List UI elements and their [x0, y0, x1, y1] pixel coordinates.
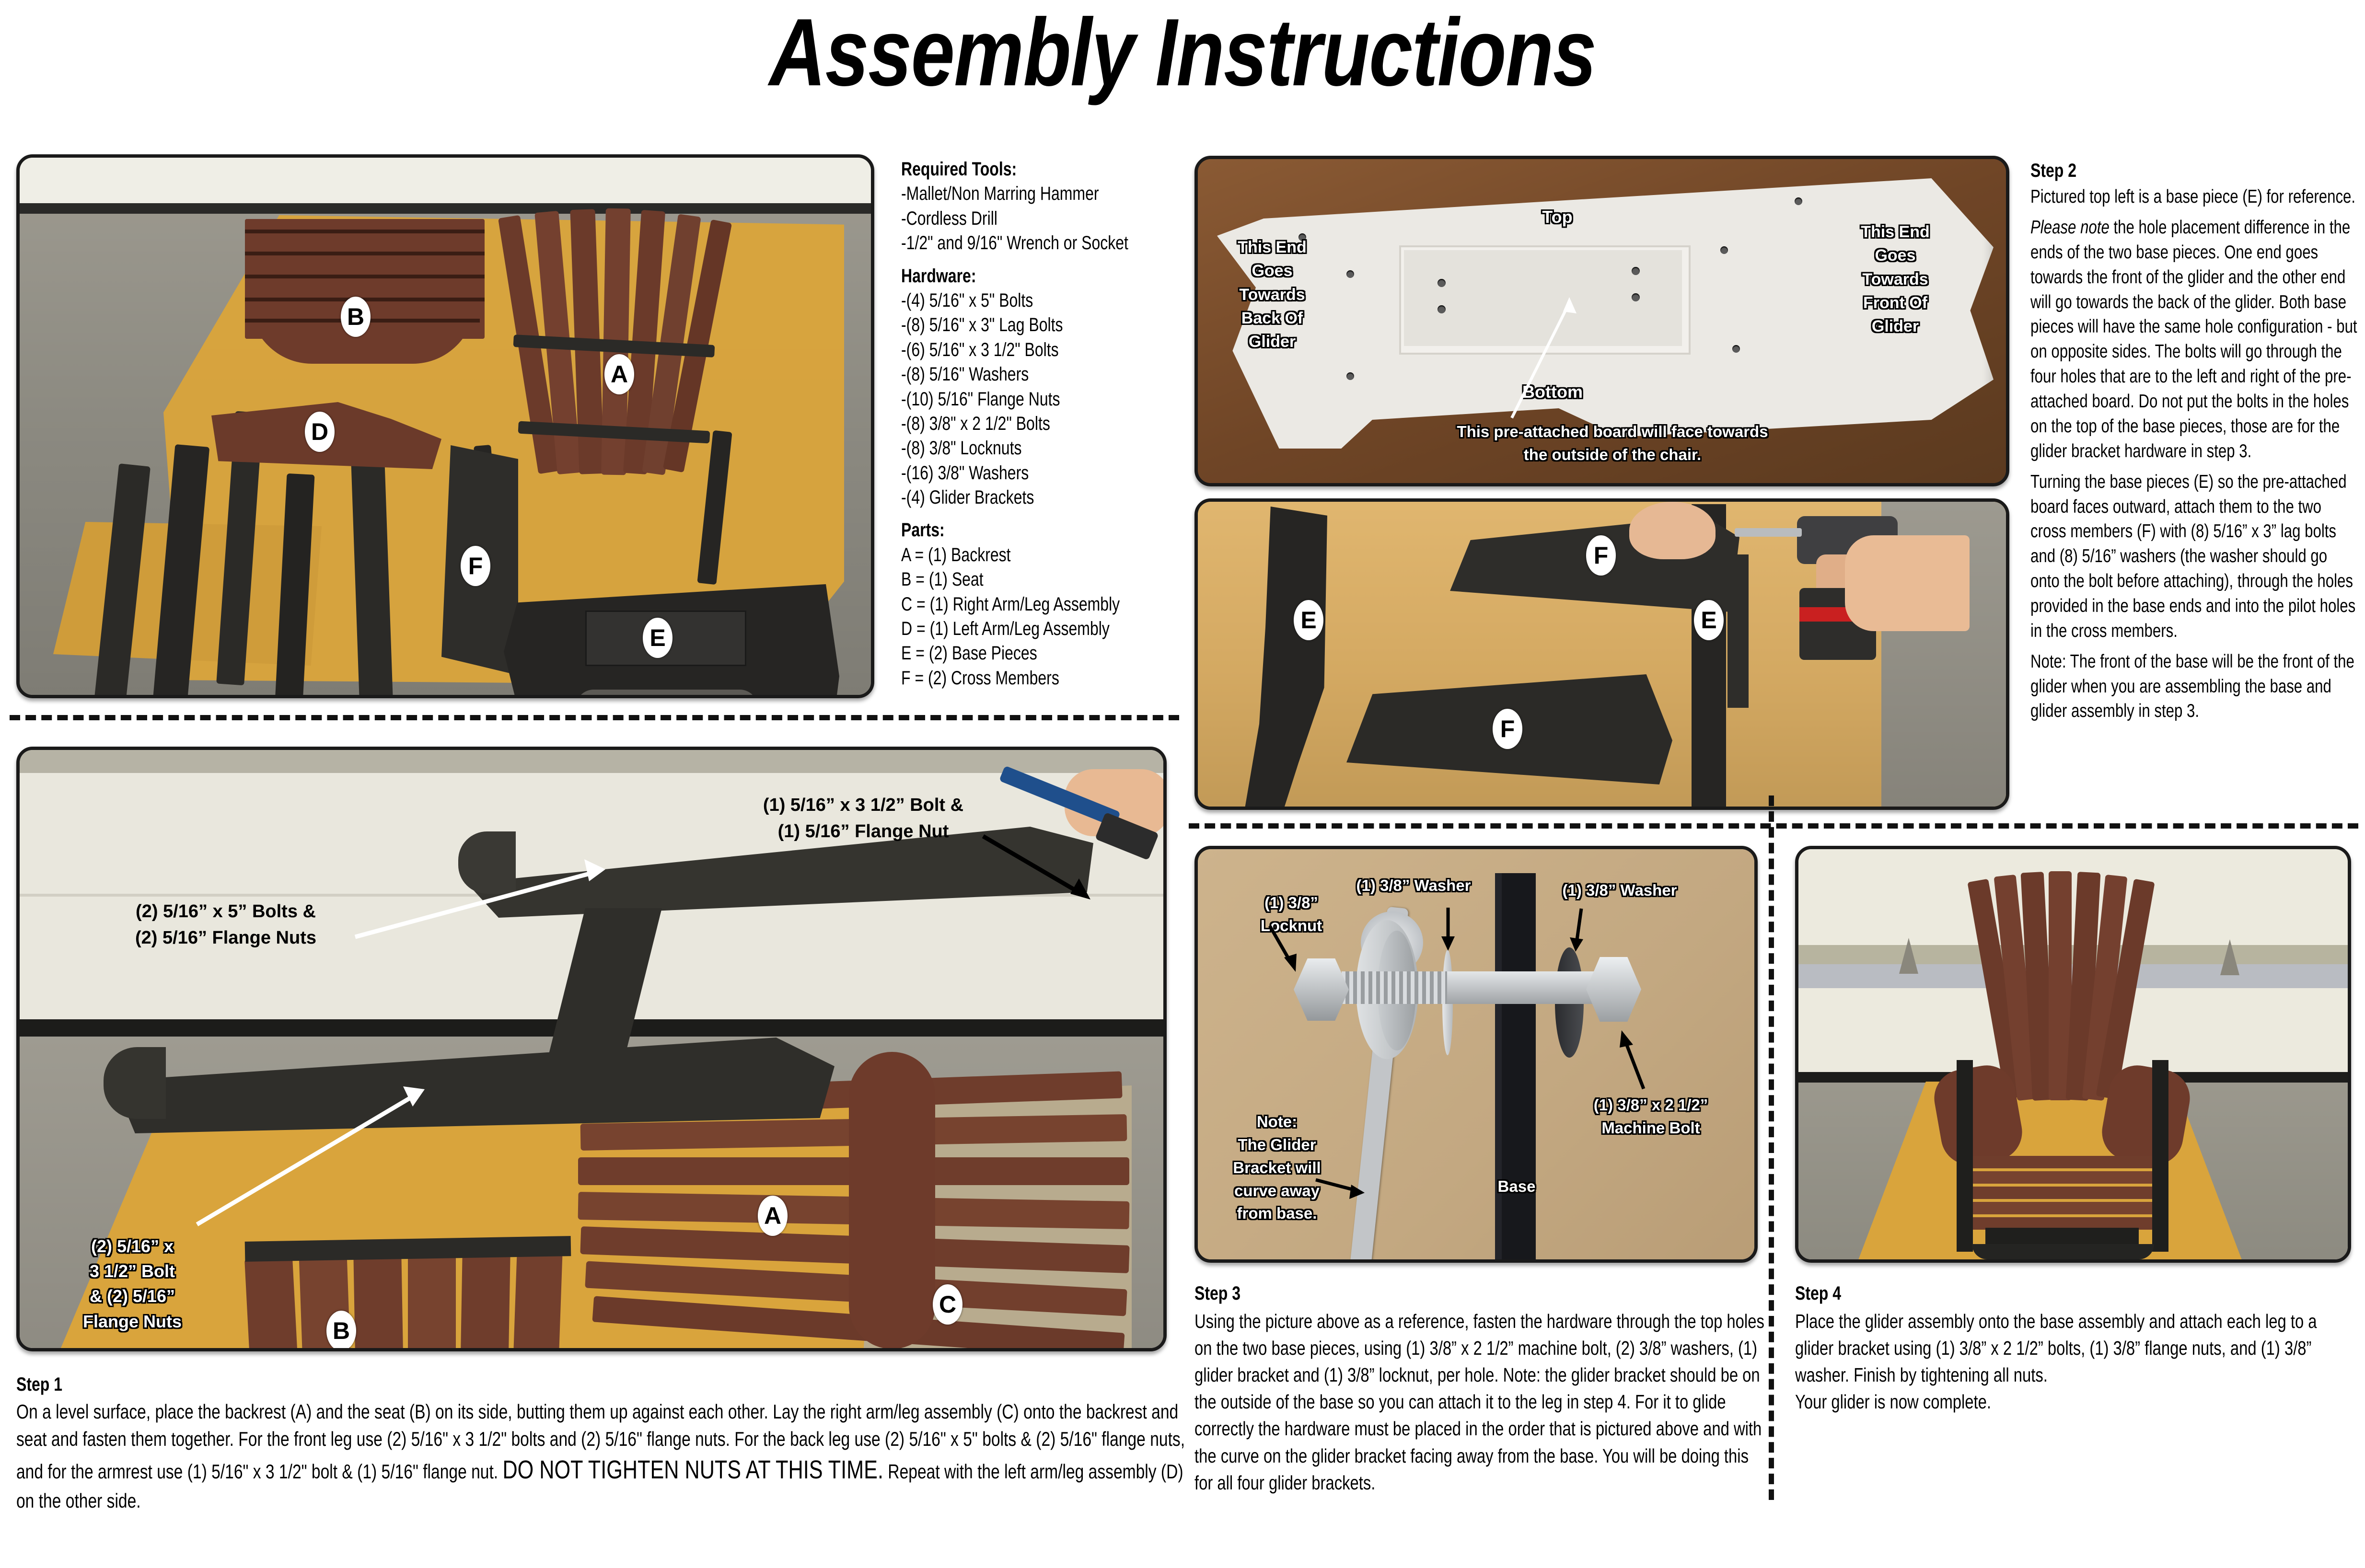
finished-glider-photo — [1795, 846, 2351, 1263]
step2-paragraph-3: Turning the base pieces (E) so the pre-a… — [2030, 470, 2360, 644]
step2-please-note: Please note — [2030, 217, 2110, 238]
step3-heading: Step 3 — [1194, 1280, 1766, 1307]
cross-label-e-right: E — [1694, 600, 1724, 640]
hardware-item-1: -(8) 5/16" x 3" Lag Bolts — [901, 314, 1063, 335]
parts-item-1: B = (1) Seat — [901, 569, 984, 590]
step1-heading: Step 1 — [16, 1372, 1190, 1397]
page-title: Assembly Instructions — [213, 5, 2152, 101]
parts-item-0: A = (1) Backrest — [901, 544, 1011, 565]
cross-label-e-left: E — [1294, 600, 1323, 640]
parts-heading: Parts: — [901, 519, 945, 541]
callout-arrow-icon — [1198, 159, 2009, 486]
step4-body-2: Your glider is now complete. — [1795, 1388, 2359, 1415]
step2-paragraph-2: the hole placement difference in the end… — [2030, 217, 2357, 461]
hardware-item-2: -(6) 5/16" x 3 1/2" Bolts — [901, 339, 1059, 360]
step3-text: Step 3 Using the picture above as a refe… — [1194, 1280, 1766, 1496]
cross-label-f-upper: F — [1586, 535, 1616, 576]
parts-label-f-upper: F — [461, 546, 490, 586]
hardware-item-3: -(8) 5/16" Washers — [901, 364, 1029, 385]
cross-label-f-lower: F — [1493, 709, 1522, 749]
divider-horizontal-left — [10, 715, 1179, 720]
hardware-item-6: -(8) 3/8" Locknuts — [901, 438, 1021, 459]
step4-heading: Step 4 — [1795, 1280, 2359, 1307]
step4-body: Place the glider assembly onto the base … — [1795, 1308, 2359, 1388]
cross-member-assembly-photo: E F E F — [1194, 498, 2009, 810]
step1-text: Step 1 On a level surface, place the bac… — [16, 1372, 1190, 1515]
step1-assembly-photo: (1) 5/16” x 3 1/2” Bolt & (1) 5/16” Flan… — [16, 747, 1167, 1351]
tool-item-1: -Cordless Drill — [901, 208, 997, 229]
hardware-item-4: -(10) 5/16" Flange Nuts — [901, 389, 1060, 410]
parts-label-d: D — [305, 412, 335, 452]
hardware-item-8: -(4) Glider Brackets — [901, 487, 1034, 508]
required-tools-heading: Required Tools: — [901, 159, 1017, 180]
tool-item-0: -Mallet/Non Marring Hammer — [901, 183, 1099, 204]
parts-label-e-upper: E — [643, 618, 672, 658]
parts-layout-photo: B A D F E E C F — [16, 154, 874, 698]
step2-heading: Step 2 — [2030, 158, 2360, 184]
step1-emphasis: DO NOT TIGHTEN NUTS AT THIS TIME. — [502, 1455, 883, 1484]
step1-arrows-icon — [20, 750, 1167, 1351]
parts-item-4: E = (2) Base Pieces — [901, 643, 1037, 664]
hardware-arrows-icon — [1198, 849, 1758, 1263]
hardware-item-0: -(4) 5/16" x 5" Bolts — [901, 290, 1033, 311]
step4-text: Step 4 Place the glider assembly onto th… — [1795, 1280, 2359, 1415]
hardware-closeup-photo: (1) 3/8” Locknut (1) 3/8” Washer (1) 3/8… — [1194, 846, 1758, 1263]
parts-label-a: A — [604, 354, 634, 394]
step3-body: Using the picture above as a reference, … — [1194, 1310, 1764, 1494]
parts-item-2: C = (1) Right Arm/Leg Assembly — [901, 594, 1120, 615]
parts-item-3: D = (1) Left Arm/Leg Assembly — [901, 618, 1110, 639]
divider-vertical-right — [1769, 796, 1774, 1500]
step2-text: Step 2 Pictured top left is a base piece… — [2030, 158, 2360, 724]
base-piece-photo: Top Bottom This End Goes Towards Back Of… — [1194, 156, 2009, 486]
hardware-item-7: -(16) 3/8" Washers — [901, 462, 1029, 484]
parts-label-b: B — [341, 297, 371, 337]
tool-item-2: -1/2" and 9/16" Wrench or Socket — [901, 232, 1128, 254]
hardware-heading: Hardware: — [901, 265, 976, 287]
step2-paragraph-1: Pictured top left is a base piece (E) fo… — [2030, 184, 2360, 209]
hardware-item-5: -(8) 3/8" x 2 1/2" Bolts — [901, 413, 1050, 434]
parts-item-5: F = (2) Cross Members — [901, 668, 1059, 689]
step2-paragraph-4: Note: The front of the base will be the … — [2030, 649, 2360, 724]
